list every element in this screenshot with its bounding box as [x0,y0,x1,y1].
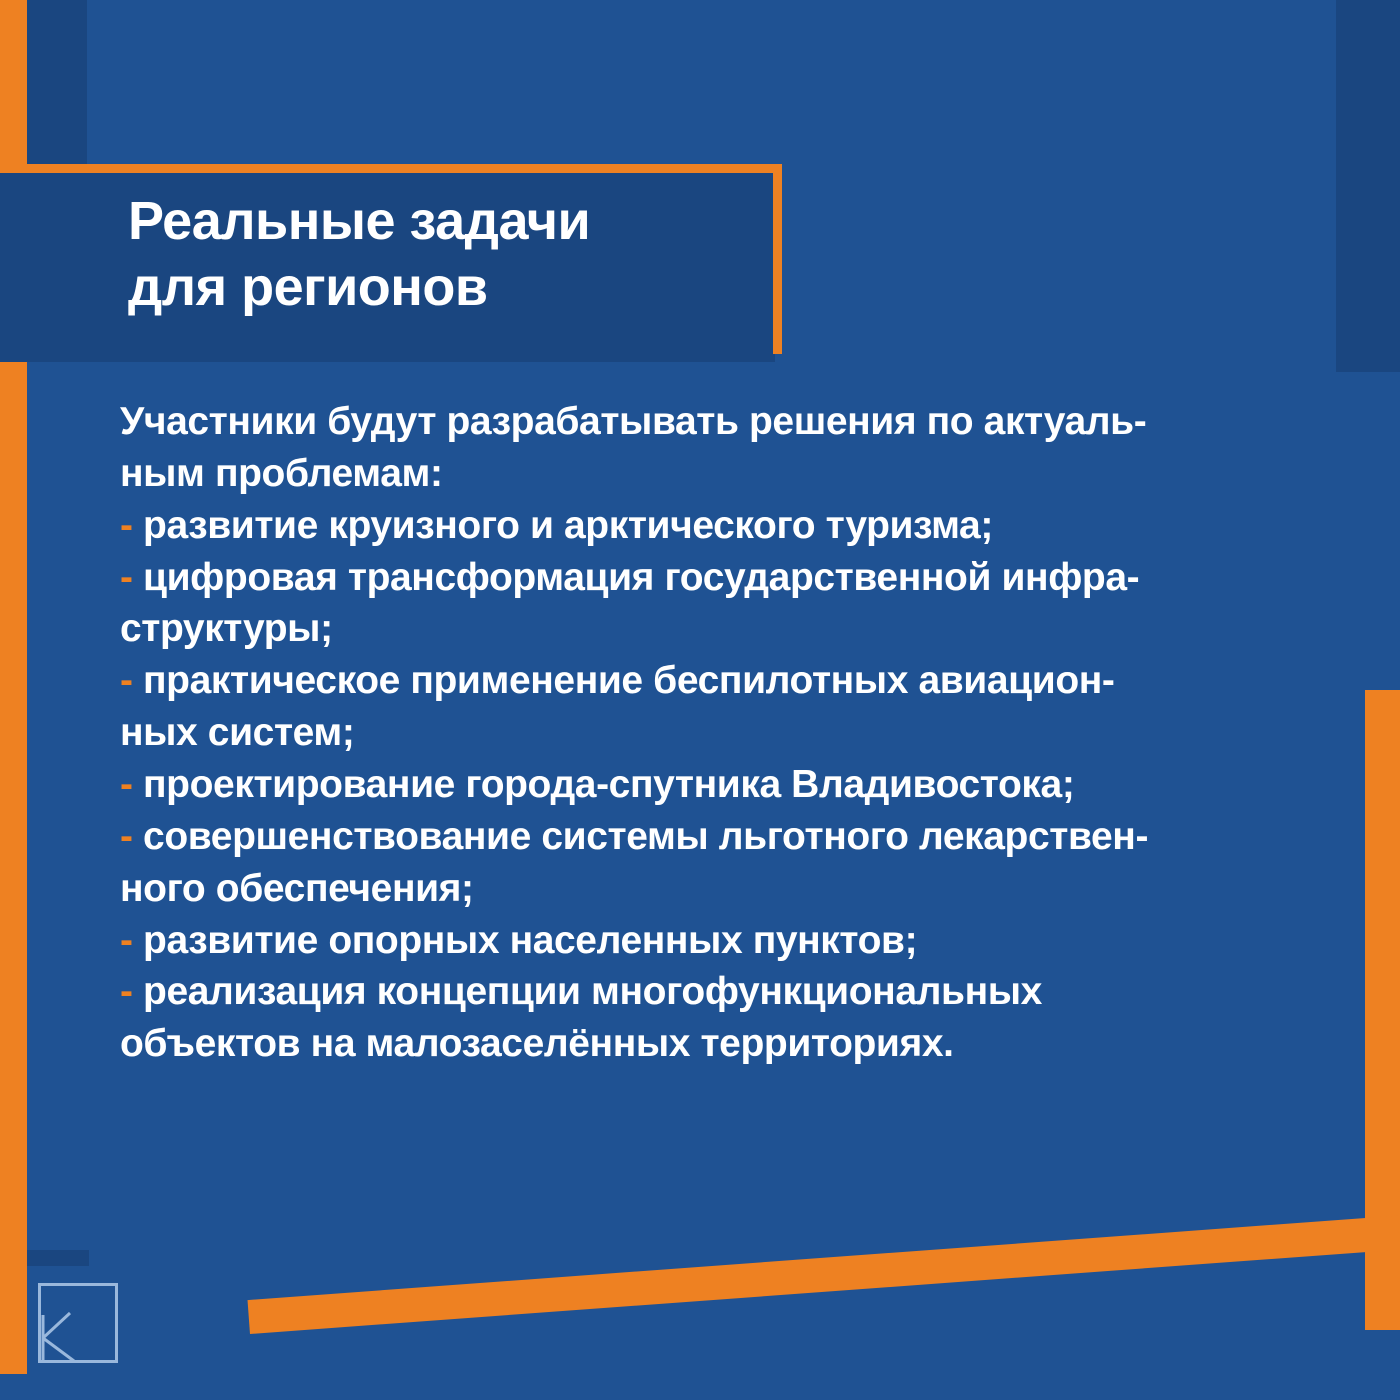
dash-marker-icon: - [120,815,133,858]
decor-right-navy-band [1336,0,1400,372]
list-item-text: реализация концепции многофункциональных [143,970,1042,1013]
list-item: - развитие круизного и арктического тури… [120,500,1300,552]
list-item: - практическое применение беспилотных ав… [120,655,1300,707]
list-item-text: проектирование города-спутника Владивост… [143,763,1074,806]
dash-marker-icon: - [120,504,133,547]
list-item-continuation: объектов на малозаселённых территориях. [120,1018,1300,1070]
list-item-text: развитие опорных населенных пунктов; [143,919,917,962]
dash-marker-icon: - [120,659,133,702]
page-title-line-2: для регионов [128,254,768,320]
list-item: - реализация концепции многофункциональн… [120,966,1300,1018]
list-item-continuation: структуры; [120,603,1300,655]
page-title: Реальные задачи для регионов [128,188,768,321]
dash-marker-icon: - [120,763,133,806]
decor-orange-top-bar [0,164,782,173]
decor-orange-left-top-bar [0,0,27,172]
decor-orange-diagonal-bar [248,1214,1400,1334]
k-square-logo-icon [38,1283,118,1363]
list-item: - проектирование города-спутника Владиво… [120,759,1300,811]
intro-line-2: ным проблемам: [120,448,1300,500]
slide-canvas: Реальные задачи для регионов Участники б… [0,0,1400,1400]
list-item-continuation: ных систем; [120,707,1300,759]
list-item-continuation: ного обеспечения; [120,863,1300,915]
dash-marker-icon: - [120,556,133,599]
page-title-line-1: Реальные задачи [128,188,768,254]
dash-marker-icon: - [120,919,133,962]
decor-orange-title-right-bar [773,164,782,354]
decor-top-left-navy-nub [27,0,87,164]
list-item-text: практическое применение беспилотных авиа… [143,659,1114,702]
dash-marker-icon: - [120,970,133,1013]
list-item: - развитие опорных населенных пунктов; [120,915,1300,967]
list-item-text: цифровая трансформация государственной и… [143,556,1139,599]
intro-line-1: Участники будут разрабатывать решения по… [120,396,1300,448]
decor-bottom-left-navy-nub [27,1250,89,1266]
list-item: - совершенствование системы льготного ле… [120,811,1300,863]
list-item-text: развитие круизного и арктического туризм… [143,504,993,547]
body-content: Участники будут разрабатывать решения по… [120,396,1300,1070]
list-item: - цифровая трансформация государственной… [120,552,1300,604]
decor-orange-left-bottom-bar [0,362,27,1374]
list-item-text: совершенствование системы льготного лека… [143,815,1148,858]
